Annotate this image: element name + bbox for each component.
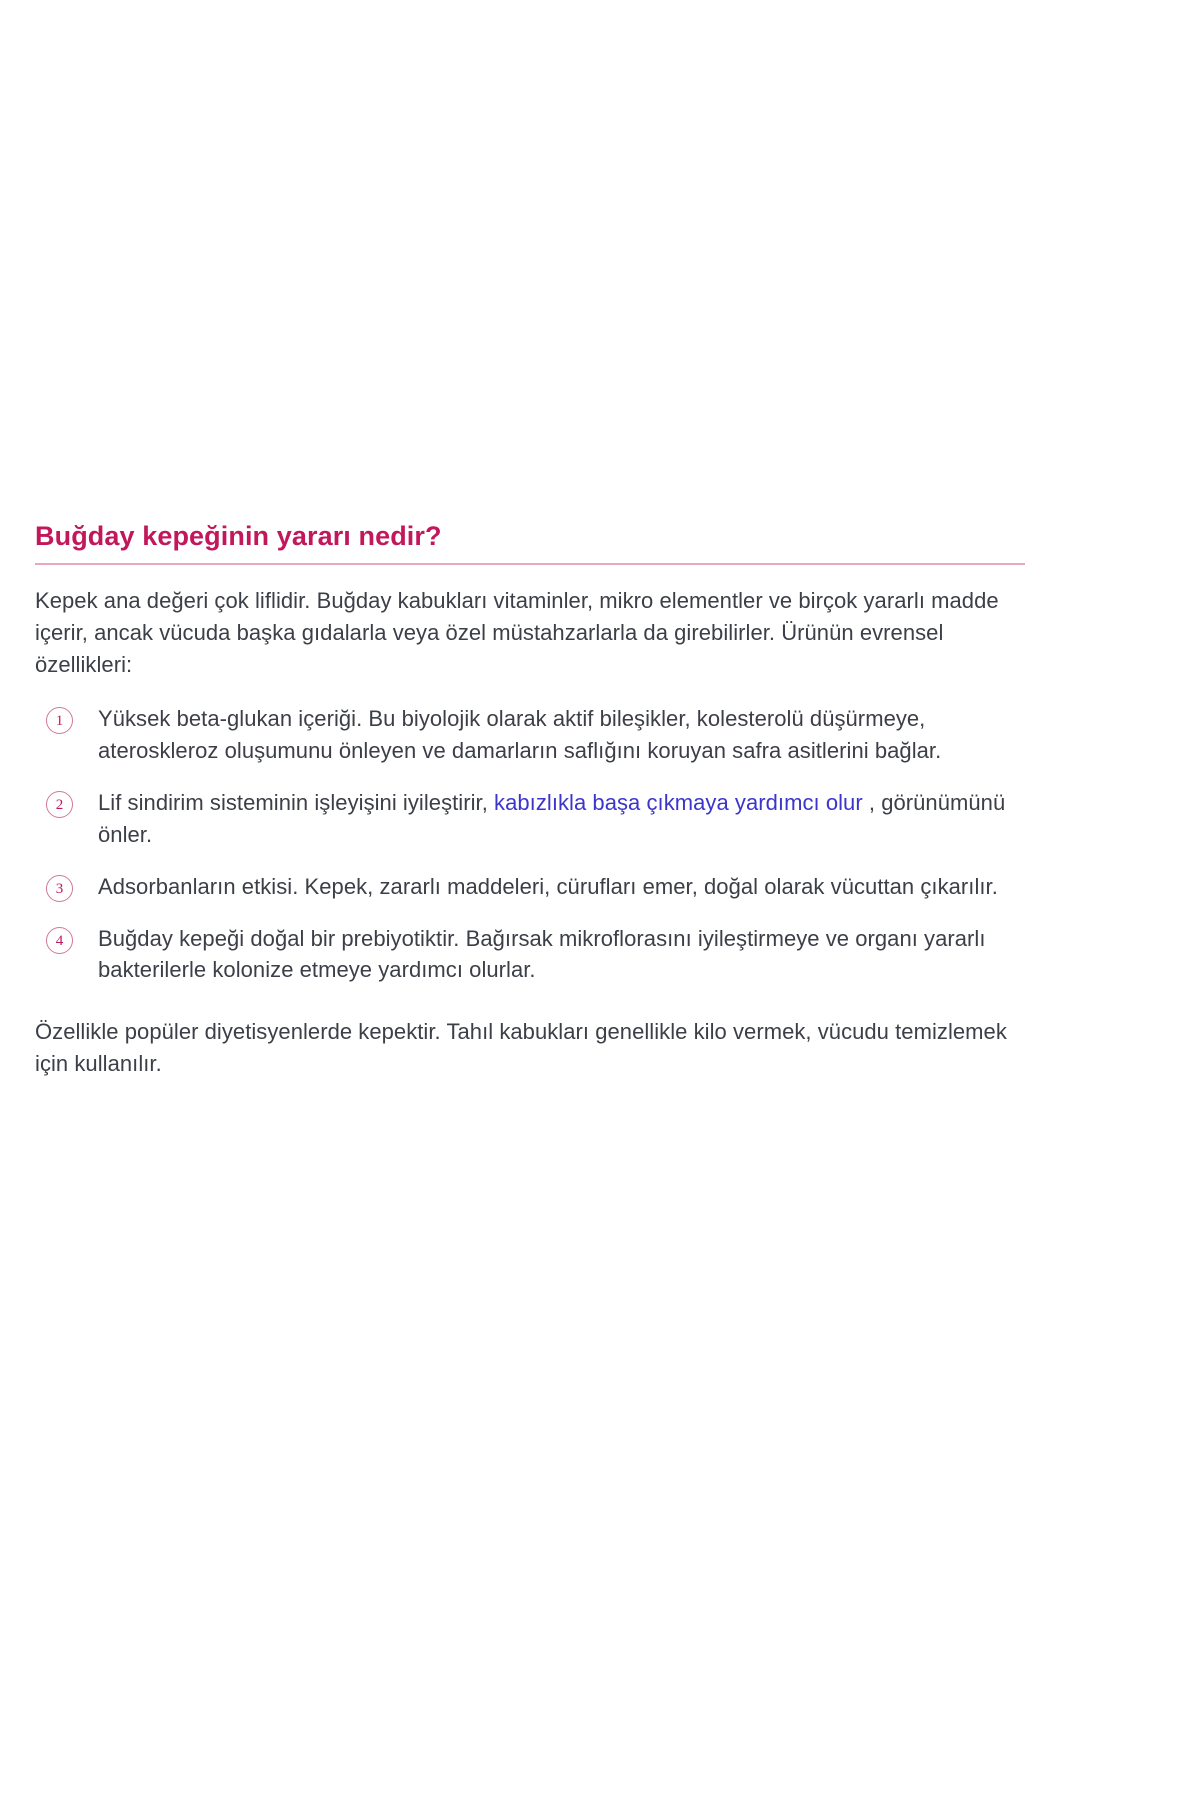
document-page: Buğday kepeğinin yararı nedir? Kepek ana…	[0, 0, 1200, 1800]
closing-paragraph: Özellikle popüler diyetisyenlerde kepekt…	[35, 1016, 1025, 1080]
article-body: Buğday kepeğinin yararı nedir? Kepek ana…	[35, 520, 1025, 1080]
benefits-list: 1 Yüksek beta-glukan içeriği. Bu biyoloj…	[35, 703, 1025, 986]
list-item-text: Lif sindirim sisteminin işleyişini iyile…	[98, 787, 1025, 851]
list-item-text: Yüksek beta-glukan içeriği. Bu biyolojik…	[98, 703, 1025, 767]
page-title: Buğday kepeğinin yararı nedir?	[35, 520, 1025, 565]
list-item: 4 Buğday kepeği doğal bir prebiyotiktir.…	[35, 923, 1025, 987]
list-item-text: Adsorbanların etkisi. Kepek, zararlı mad…	[98, 871, 1025, 903]
list-marker-1: 1	[46, 707, 73, 734]
intro-paragraph: Kepek ana değeri çok liflidir. Buğday ka…	[35, 585, 1025, 681]
list-marker-2: 2	[46, 791, 73, 818]
list-item-text-before-link: Lif sindirim sisteminin işleyişini iyile…	[98, 790, 494, 815]
constipation-help-link[interactable]: kabızlıkla başa çıkmaya yardımcı olur	[494, 790, 863, 815]
list-marker-3: 3	[46, 875, 73, 902]
list-item-text: Buğday kepeği doğal bir prebiyotiktir. B…	[98, 923, 1025, 987]
list-marker-4: 4	[46, 927, 73, 954]
list-item: 2 Lif sindirim sisteminin işleyişini iyi…	[35, 787, 1025, 851]
list-item: 1 Yüksek beta-glukan içeriği. Bu biyoloj…	[35, 703, 1025, 767]
list-item: 3 Adsorbanların etkisi. Kepek, zararlı m…	[35, 871, 1025, 903]
